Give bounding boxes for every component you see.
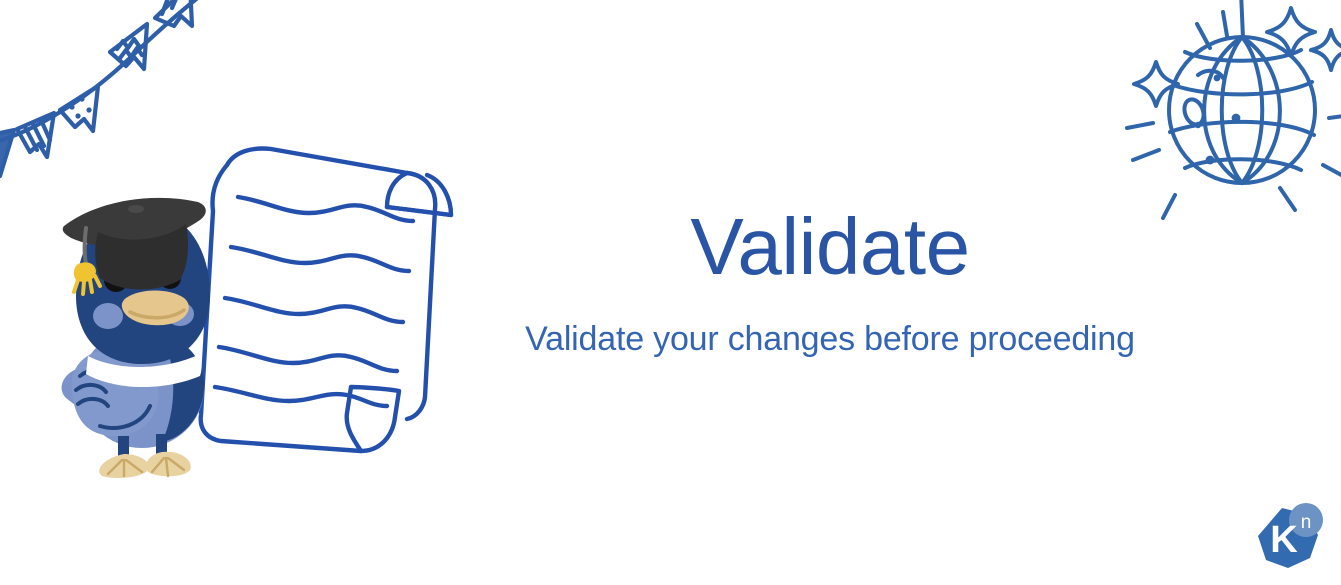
slide-canvas: Validate Validate your changes before pr… [0,0,1341,585]
logo-badge-letter-n: n [1301,512,1312,533]
party-bunting-flags-icon [0,0,232,184]
logo-badge-circle [1289,503,1323,537]
page-subtitle: Validate your changes before proceeding [460,319,1200,360]
diploma-scroll-icon [175,135,465,460]
kn-logo[interactable]: K n [1248,500,1330,578]
slide-text-block: Validate Validate your changes before pr… [460,205,1200,360]
logo-letter-k: K [1270,519,1298,561]
disco-ball-icon [1115,0,1341,235]
graduate-bird-mascot-icon [58,188,238,478]
page-title: Validate [460,205,1200,289]
logo-hexagon-shape [1258,508,1318,568]
